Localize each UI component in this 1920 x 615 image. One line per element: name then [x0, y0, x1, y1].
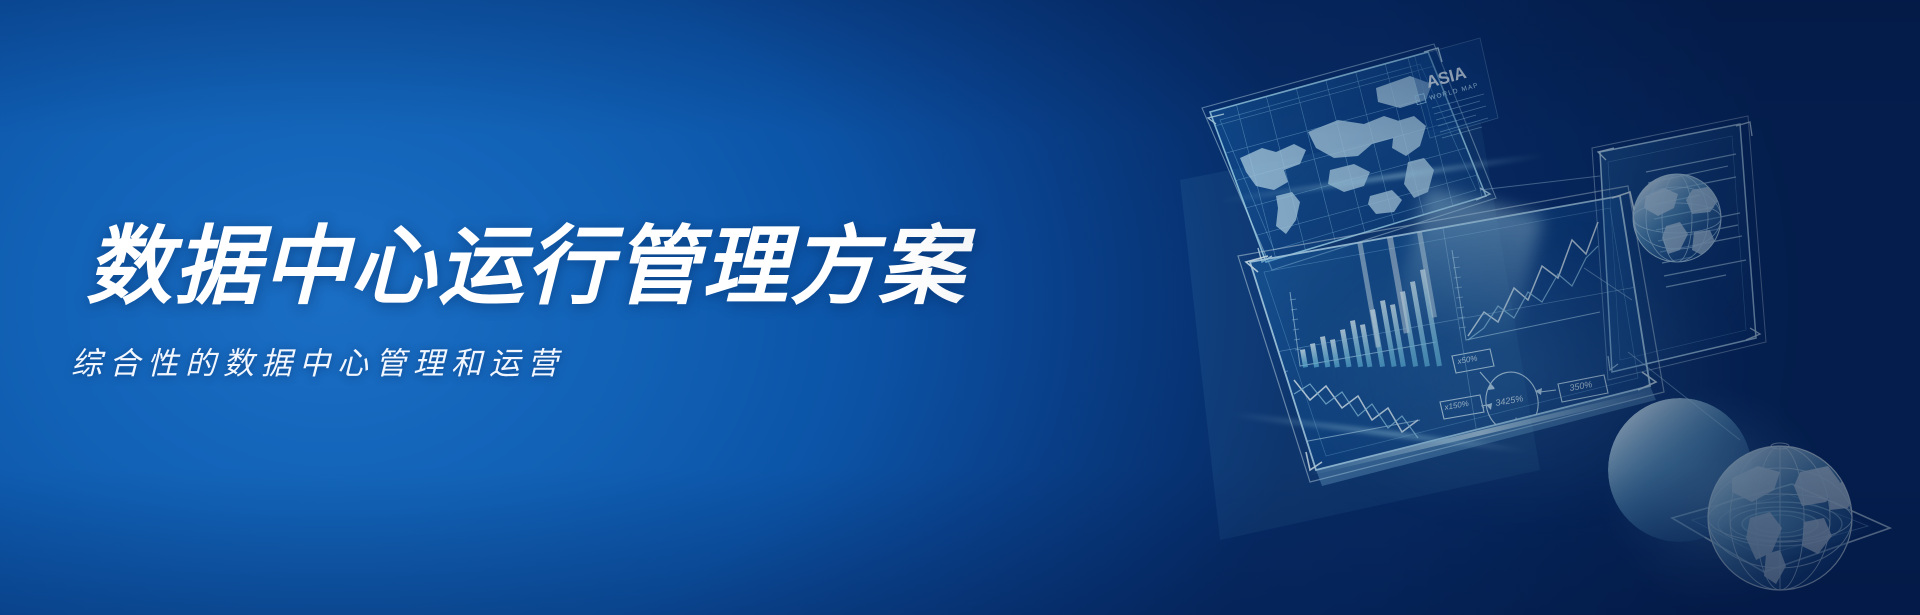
globe-platform [1608, 398, 1890, 590]
page-subtitle: 综合性的数据中心管理和运营 [71, 338, 565, 383]
tech-illustration: ASIA WORLD MAP [1180, 0, 1920, 615]
banner-text-block: 数据中心运行管理方案 综合性的数据中心管理和运营 [0, 0, 1260, 615]
page-title: 数据中心运行管理方案 [86, 222, 966, 313]
hero-banner: ASIA WORLD MAP [0, 0, 1920, 615]
